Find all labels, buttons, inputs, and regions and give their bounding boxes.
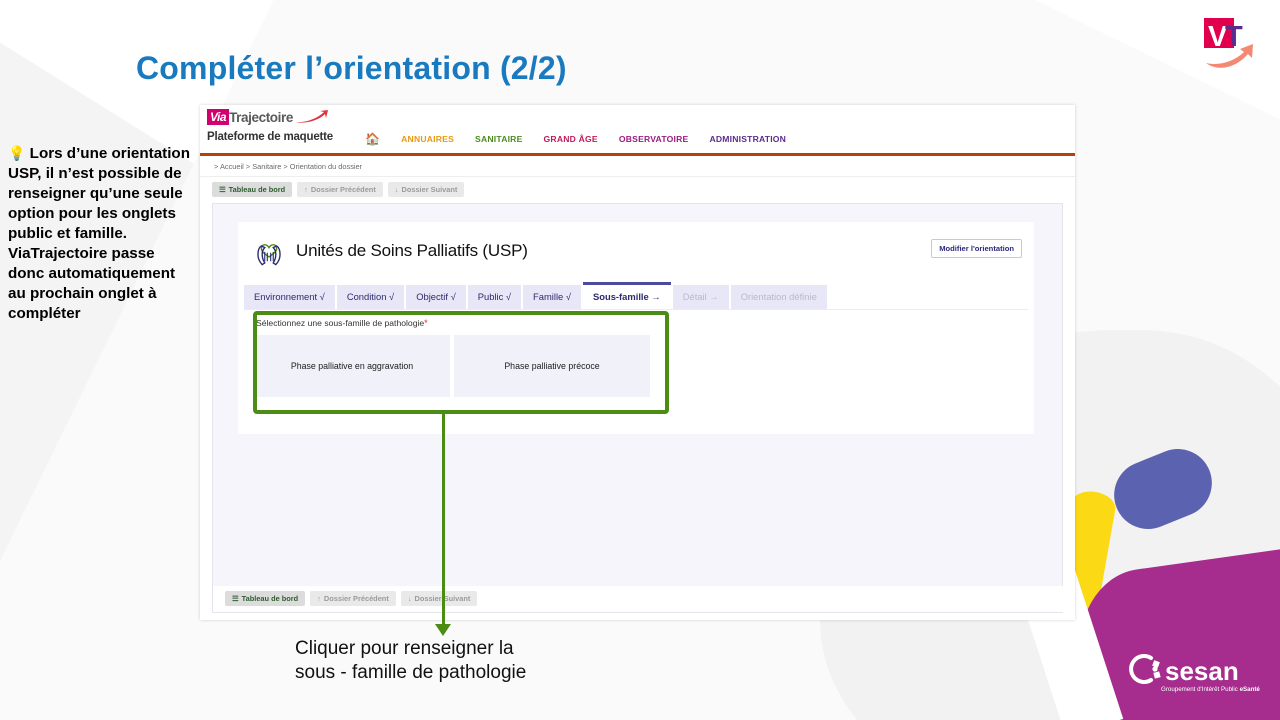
page-title: Compléter l’orientation (2/2) [136, 50, 567, 87]
grid-icon: ☰ [219, 185, 226, 194]
app-screenshot: ViaTrajectoire Plateforme de maquette 🏠 … [200, 105, 1075, 620]
tab-famille[interactable]: Famille √ [523, 285, 581, 309]
breadcrumb-text[interactable]: > Accueil > Sanitaire > Orientation du d… [214, 162, 362, 171]
top-navigation: 🏠 ANNUAIRES SANITAIRE GRAND ÂGE OBSERVAT… [365, 132, 786, 146]
next-record-button[interactable]: ↓ Dossier Suivant [388, 182, 465, 197]
tab-condition[interactable]: Condition √ [337, 285, 404, 309]
callout-caption-line1: Cliquer pour renseigner la [295, 637, 526, 661]
nav-item-grand-age[interactable]: GRAND ÂGE [544, 134, 598, 144]
arrow-down-icon: ↓ [408, 594, 412, 603]
panel-label: Sélectionnez une sous-famille de patholo… [256, 318, 428, 328]
next-record-label: Dossier Suivant [401, 185, 457, 194]
dashboard-button-bottom[interactable]: ☰ Tableau de bord [225, 591, 305, 606]
viatrajectoire-vt-logo-icon: V T [1192, 8, 1264, 74]
svg-text:T: T [1225, 21, 1243, 53]
app-header: ViaTrajectoire Plateforme de maquette 🏠 … [200, 105, 1075, 153]
tab-objectif[interactable]: Objectif √ [406, 285, 466, 309]
app-page-body: Unités de Soins Palliatifs (USP) Modifie… [212, 203, 1063, 613]
logo-trajectoire-text: Trajectoire [229, 110, 293, 125]
card-header: Unités de Soins Palliatifs (USP) Modifie… [238, 222, 1034, 268]
logo-swoosh-arrow-icon [295, 110, 329, 124]
lightbulb-icon: 💡 [8, 145, 25, 161]
tab-detail: Détail → [673, 285, 729, 309]
nav-item-observatoire[interactable]: OBSERVATOIRE [619, 134, 689, 144]
previous-record-button-bottom[interactable]: ↑ Dossier Précédent [310, 591, 396, 606]
modify-orientation-button[interactable]: Modifier l'orientation [931, 239, 1022, 258]
required-marker: * [424, 318, 428, 328]
option-phase-palliative-precoce[interactable]: Phase palliative précoce [454, 335, 650, 397]
sesan-logo: sesan Groupement d'Intérêt Public eSanté [1125, 648, 1265, 696]
tab-orientation-definie: Orientation définie [731, 285, 827, 309]
arrow-up-icon: ↑ [317, 594, 321, 603]
option-phase-palliative-en-aggravation[interactable]: Phase palliative en aggravation [254, 335, 450, 397]
previous-record-bottom-label: Dossier Précédent [324, 594, 389, 603]
top-toolbar: ☰ Tableau de bord ↑ Dossier Précédent ↓ … [200, 177, 1075, 203]
platform-label: Plateforme de maquette [207, 131, 333, 143]
card-title: Unités de Soins Palliatifs (USP) [296, 241, 528, 261]
tab-public[interactable]: Public √ [468, 285, 521, 309]
sesan-tagline: Groupement d'Intérêt Public eSanté [1161, 686, 1260, 693]
home-icon[interactable]: 🏠 [365, 132, 380, 146]
callout-caption: Cliquer pour renseigner la sous - famill… [295, 637, 526, 685]
tab-sous-famille[interactable]: Sous-famille → [583, 282, 671, 309]
logo-via-text: Via [207, 109, 229, 125]
previous-record-button[interactable]: ↑ Dossier Précédent [297, 182, 383, 197]
option-list: Phase palliative en aggravation Phase pa… [254, 335, 650, 397]
side-note-text: Lors d’une orientation USP, il n’est pos… [8, 145, 190, 322]
hands-heart-icon [252, 234, 286, 268]
tab-environnement[interactable]: Environnement √ [244, 285, 335, 309]
orientation-tabs: Environnement √ Condition √ Objectif √ P… [244, 282, 1034, 309]
arrow-up-icon: ↑ [304, 185, 308, 194]
nav-item-annuaires[interactable]: ANNUAIRES [401, 134, 454, 144]
callout-caption-line2: sous - famille de pathologie [295, 661, 526, 685]
viatrajectoire-logo[interactable]: ViaTrajectoire [207, 109, 329, 125]
sous-famille-panel: Sélectionnez une sous-famille de patholo… [244, 309, 1028, 414]
dashboard-button[interactable]: ☰ Tableau de bord [212, 182, 292, 197]
dashboard-button-label: Tableau de bord [229, 185, 286, 194]
side-note: 💡 Lors d’une orientation USP, il n’est p… [8, 143, 194, 324]
bottom-toolbar: ☰ Tableau de bord ↑ Dossier Précédent ↓ … [213, 586, 1074, 612]
dashboard-button-bottom-label: Tableau de bord [242, 594, 299, 603]
next-record-button-bottom[interactable]: ↓ Dossier Suivant [401, 591, 478, 606]
svg-text:sesan: sesan [1165, 656, 1239, 686]
nav-item-administration[interactable]: ADMINISTRATION [709, 134, 786, 144]
callout-arrow-head-icon [435, 624, 451, 636]
arrow-down-icon: ↓ [395, 185, 399, 194]
callout-arrow-line [442, 410, 445, 628]
breadcrumb: > Accueil > Sanitaire > Orientation du d… [200, 156, 1075, 177]
previous-record-label: Dossier Précédent [311, 185, 376, 194]
nav-item-sanitaire[interactable]: SANITAIRE [475, 134, 522, 144]
panel-label-text: Sélectionnez une sous-famille de patholo… [256, 318, 424, 328]
grid-icon: ☰ [232, 594, 239, 603]
orientation-card: Unités de Soins Palliatifs (USP) Modifie… [238, 222, 1034, 434]
